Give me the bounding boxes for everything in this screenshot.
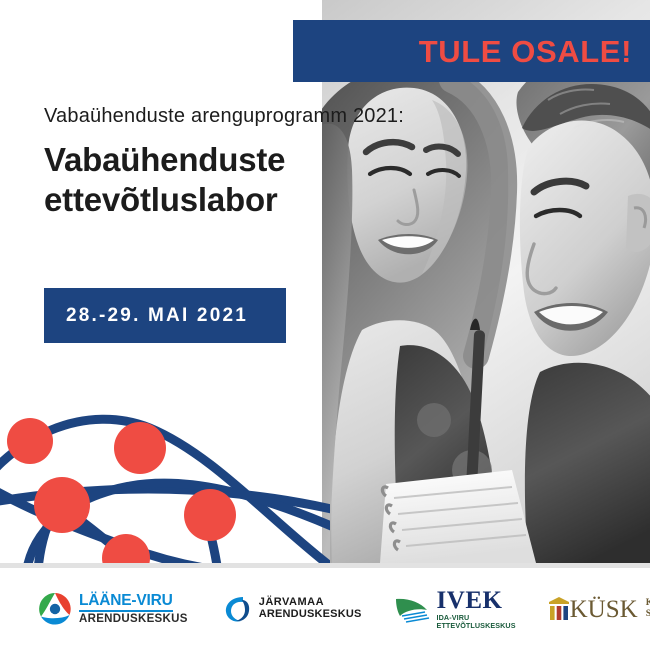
network-graphic bbox=[0, 398, 330, 563]
ivek-line1: IVEK bbox=[437, 588, 516, 613]
logo-laane-viru[interactable]: LÄÄNE-VIRU ARENDUSKESKUS bbox=[38, 589, 188, 629]
network-node bbox=[7, 418, 53, 464]
kusk-line3: Sihtkapital bbox=[646, 609, 650, 620]
event-date-label: 28.-29. MAI 2021 bbox=[44, 305, 248, 327]
kusk-line2: Kodanikuühiskonna bbox=[646, 598, 650, 609]
page-title: Vabaühenduste ettevõtluslabor bbox=[44, 140, 285, 221]
jarvamaa-wordmark: JÄRVAMAA ARENDUSKESKUS bbox=[259, 597, 362, 620]
ivek-leaf-icon bbox=[394, 594, 430, 624]
laane-viru-wordmark: LÄÄNE-VIRU ARENDUSKESKUS bbox=[79, 593, 188, 624]
network-node bbox=[114, 422, 166, 474]
ivek-wordmark: IVEK IDA-VIRU ETTEVÕTLUSKESKUS bbox=[437, 588, 516, 629]
program-kicker: Vabaühenduste arenguprogramm 2021: bbox=[44, 105, 404, 128]
kusk-columns-icon bbox=[548, 596, 570, 622]
banner-label: TULE OSALE! bbox=[419, 36, 650, 67]
logo-jarvamaa[interactable]: JÄRVAMAA ARENDUSKESKUS bbox=[222, 589, 362, 629]
laane-viru-circle-icon bbox=[38, 592, 72, 626]
laane-viru-line1: LÄÄNE-VIRU bbox=[79, 593, 173, 611]
partner-logo-bar: LÄÄNE-VIRU ARENDUSKESKUS JÄRVAMAA ARENDU… bbox=[0, 568, 650, 650]
kusk-line1: KÜSK bbox=[570, 597, 638, 622]
jarvamaa-line2: ARENDUSKESKUS bbox=[259, 609, 362, 621]
network-node bbox=[184, 489, 236, 541]
jarvamaa-swirl-icon bbox=[222, 594, 252, 624]
event-photo bbox=[322, 0, 650, 563]
ivek-line2: IDA-VIRU ETTEVÕTLUSKESKUS bbox=[437, 614, 516, 629]
network-nodes-icon bbox=[0, 398, 330, 563]
photo-icon bbox=[322, 0, 650, 563]
poster-canvas: TULE OSALE! Vabaühenduste arenguprogramm… bbox=[0, 0, 650, 650]
network-node bbox=[34, 477, 90, 533]
kusk-subtitle: Kodanikuühiskonna Sihtkapital bbox=[646, 598, 650, 619]
tule-osale-banner: TULE OSALE! bbox=[293, 20, 650, 82]
logo-ivek[interactable]: IVEK IDA-VIRU ETTEVÕTLUSKESKUS bbox=[394, 589, 516, 629]
event-date-badge: 28.-29. MAI 2021 bbox=[44, 288, 286, 343]
laane-viru-line2: ARENDUSKESKUS bbox=[79, 613, 188, 625]
page-title-line1: Vabaühenduste bbox=[44, 141, 285, 178]
logo-kusk[interactable]: KÜSK Kodanikuühiskonna Sihtkapital bbox=[548, 589, 650, 629]
page-title-line2: ettevõtluslabor bbox=[44, 180, 285, 220]
